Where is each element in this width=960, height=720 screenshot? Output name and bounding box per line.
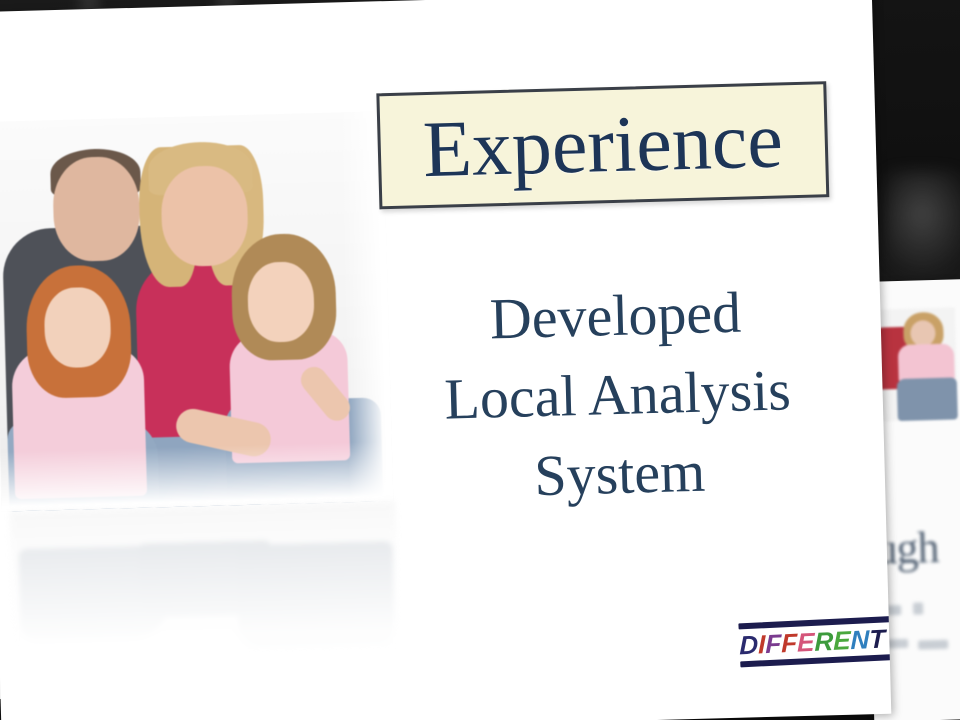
presentation-slide: Experience Developed Local Analysis Syst… bbox=[0, 0, 891, 720]
logo-letter-7: N bbox=[851, 625, 870, 654]
photo-father-face bbox=[52, 156, 141, 262]
photo-girl-right-face bbox=[247, 261, 315, 343]
slide-body-line-2: Local Analysis bbox=[392, 350, 844, 441]
photo-mother-face bbox=[160, 165, 249, 267]
different-logo: DIFFERENT bbox=[738, 616, 891, 668]
backdrop-right-ghost-shape bbox=[886, 170, 960, 280]
logo-letter-3: F bbox=[781, 629, 797, 658]
logo-letter-8: T bbox=[869, 624, 885, 653]
photo-girl-left-face bbox=[43, 287, 111, 369]
logo-wordmark: DIFFERENT bbox=[739, 624, 891, 660]
background-slide-blurred-text bbox=[883, 596, 960, 669]
logo-letter-1: I bbox=[758, 630, 765, 658]
logo-letter-4: E bbox=[797, 628, 814, 657]
bg-photo-child-jeans bbox=[897, 377, 958, 421]
logo-letter-6: E bbox=[833, 626, 850, 655]
slide-body-line-1: Developed bbox=[389, 271, 841, 362]
slide-title: Experience bbox=[422, 100, 784, 190]
slide-viewport: ugh bbox=[0, 0, 960, 720]
background-slide-photo bbox=[877, 307, 958, 421]
slide-body: Developed Local Analysis System bbox=[389, 271, 845, 520]
photo-reflection bbox=[10, 501, 400, 661]
logo-letter-0: D bbox=[739, 630, 758, 659]
family-photo bbox=[0, 111, 393, 511]
slide-body-line-3: System bbox=[394, 429, 846, 520]
logo-letter-5: R bbox=[814, 627, 833, 656]
logo-letter-2: F bbox=[765, 629, 781, 658]
photo-bottom-fade bbox=[0, 441, 393, 512]
slide-title-box: Experience bbox=[376, 81, 829, 209]
